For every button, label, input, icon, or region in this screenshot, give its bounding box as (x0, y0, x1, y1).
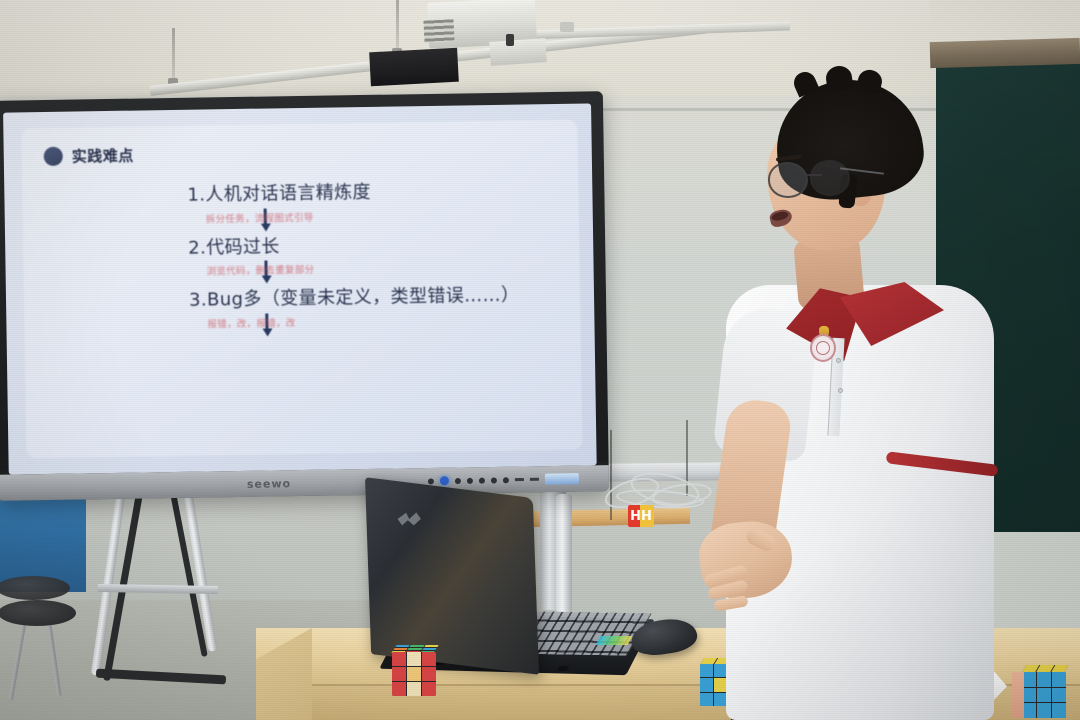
slide-point-3-arrow (189, 312, 344, 314)
sensor-dot-icon (428, 478, 434, 484)
power-button[interactable] (440, 476, 449, 485)
slide-point-1-arrow (188, 207, 343, 209)
stool-seat[interactable] (0, 600, 76, 626)
circle-bullet-icon (44, 147, 63, 166)
slide-point-2-heading: 2.代码过长 (188, 237, 280, 259)
slide-point-1-note: 拆分任务，流程图式引导 (206, 209, 314, 225)
mouth-interior (771, 210, 789, 222)
ceiling-hanger-1 (172, 28, 175, 80)
display-stand-post-right (556, 494, 572, 614)
toy-block-label: HH (630, 510, 652, 523)
projector-shadow-box (369, 48, 459, 87)
slide-point-1: 1.人机对话语言精炼度 拆分任务，流程图式引导 (187, 183, 371, 226)
ir-receiver-icon (545, 473, 579, 485)
interactive-flat-panel[interactable]: 实践难点 1.人机对话语言精炼度 拆分任务，流程图式引导 (0, 91, 609, 501)
eyeglasses-lens-right (810, 160, 850, 196)
slide-point-1-heading: 1.人机对话语言精炼度 (187, 183, 371, 207)
badge-inner-ring (816, 341, 830, 355)
display-screen[interactable]: 实践难点 1.人机对话语言精炼度 拆分任务，流程图式引导 (3, 103, 597, 474)
menu-button-3[interactable] (479, 477, 485, 483)
menu-button-4[interactable] (491, 477, 497, 483)
menu-button-2[interactable] (467, 477, 473, 483)
volume-up-button[interactable] (530, 478, 539, 481)
toy-block-hh[interactable]: HH (628, 505, 654, 527)
laptop-sticker (596, 636, 633, 645)
ceiling-hanger-2 (396, 0, 399, 52)
laptop-lid[interactable] (365, 477, 539, 675)
slide-header: 实践难点 (44, 145, 134, 167)
student-presenter (690, 70, 1020, 720)
menu-button-5[interactable] (503, 477, 509, 483)
slide-point-3-note: 报错，改，报错，改 (207, 315, 295, 330)
slide-point-2: 2.代码过长 浏览代码，删去重复部分 (188, 236, 344, 278)
volume-down-button[interactable] (515, 478, 524, 481)
display-control-cluster[interactable] (428, 473, 579, 486)
presentation-slide: 实践难点 1.人机对话语言精炼度 拆分任务，流程图式引导 (21, 120, 582, 459)
projector-lens-knob (560, 22, 574, 32)
blackboard-frame (930, 38, 1080, 68)
projector-knob (506, 34, 514, 46)
slide-point-2-arrow (188, 260, 343, 262)
eyeglasses-bridge (806, 174, 822, 176)
menu-button-1[interactable] (455, 477, 461, 483)
projector-vent (423, 19, 454, 43)
classroom-scene: 实践难点 1.人机对话语言精炼度 拆分任务，流程图式引导 (0, 0, 1080, 720)
slide-title: 实践难点 (72, 145, 134, 167)
slide-point-3: 3.Bug多（变量未定义，类型错误……） 报错，改，报错，改 (189, 286, 520, 331)
eyeglasses-lens-left (768, 162, 808, 198)
slide-point-3-heading: 3.Bug多（变量未定义，类型错误……） (189, 286, 520, 312)
school-emblem-badge (808, 326, 838, 364)
slide-body: 1.人机对话语言精炼度 拆分任务，流程图式引导 2.代码过长 (22, 180, 582, 449)
display-brand-logo: seewo (247, 477, 291, 491)
laptop-brand-logo-icon (394, 507, 425, 533)
slide-point-2-note: 浏览代码，删去重复部分 (206, 262, 314, 278)
shirt-button-2 (838, 388, 843, 393)
projector-mount (489, 38, 547, 66)
